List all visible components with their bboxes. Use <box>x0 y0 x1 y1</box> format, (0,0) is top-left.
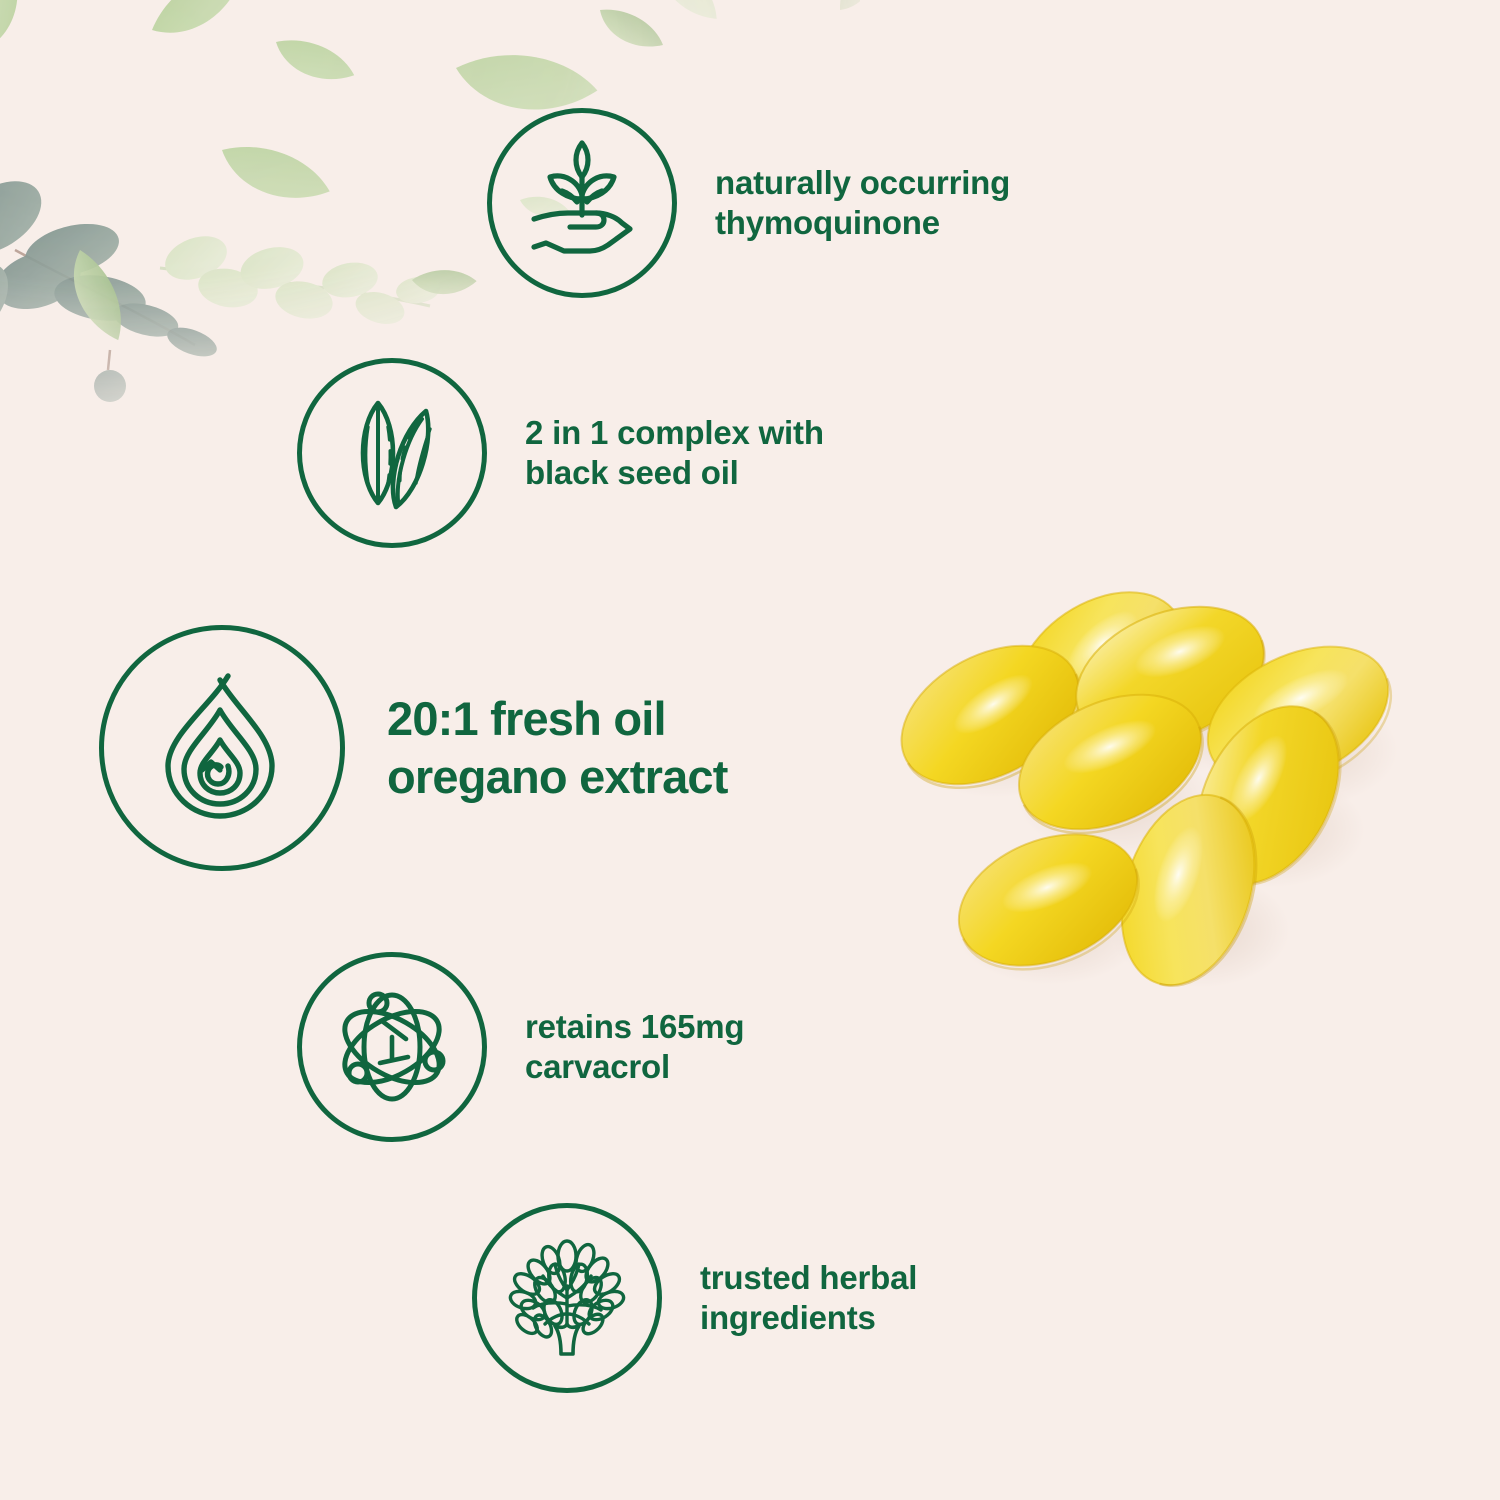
hand-holding-plant-icon <box>487 108 677 298</box>
infographic-canvas: naturally occurring thymoquinone 2 in 1 … <box>0 0 1500 1500</box>
feature-line: oregano extract <box>387 748 728 806</box>
feature-label: retains 165mg carvacrol <box>525 1007 744 1087</box>
softgel-capsules-image <box>900 500 1420 1000</box>
feature-oregano-extract: 20:1 fresh oil oregano extract <box>99 625 728 871</box>
feature-thymoquinone: naturally occurring thymoquinone <box>487 108 1010 298</box>
feature-herbal-ingredients: trusted herbal ingredients <box>472 1203 917 1393</box>
feature-line: 20:1 fresh oil <box>387 690 728 748</box>
feature-line: ingredients <box>700 1298 917 1338</box>
feature-line: 2 in 1 complex with <box>525 413 824 453</box>
feature-carvacrol: retains 165mg carvacrol <box>297 952 744 1142</box>
feature-label: naturally occurring thymoquinone <box>715 163 1010 243</box>
feature-line: black seed oil <box>525 453 824 493</box>
feature-line: retains 165mg <box>525 1007 744 1047</box>
feature-label: trusted herbal ingredients <box>700 1258 917 1338</box>
black-seeds-icon <box>297 358 487 548</box>
feature-label: 2 in 1 complex with black seed oil <box>525 413 824 493</box>
feature-black-seed-oil: 2 in 1 complex with black seed oil <box>297 358 824 548</box>
pale-leaf-sprig <box>159 228 442 329</box>
oil-droplet-icon <box>99 625 345 871</box>
atom-molecule-icon <box>297 952 487 1142</box>
feature-line: naturally occurring <box>715 163 1010 203</box>
tree-icon <box>472 1203 662 1393</box>
eucalyptus-sprig <box>0 166 221 402</box>
feature-line: trusted herbal <box>700 1258 917 1298</box>
feature-label: 20:1 fresh oil oregano extract <box>387 690 728 806</box>
feature-line: thymoquinone <box>715 203 1010 243</box>
feature-line: carvacrol <box>525 1047 744 1087</box>
